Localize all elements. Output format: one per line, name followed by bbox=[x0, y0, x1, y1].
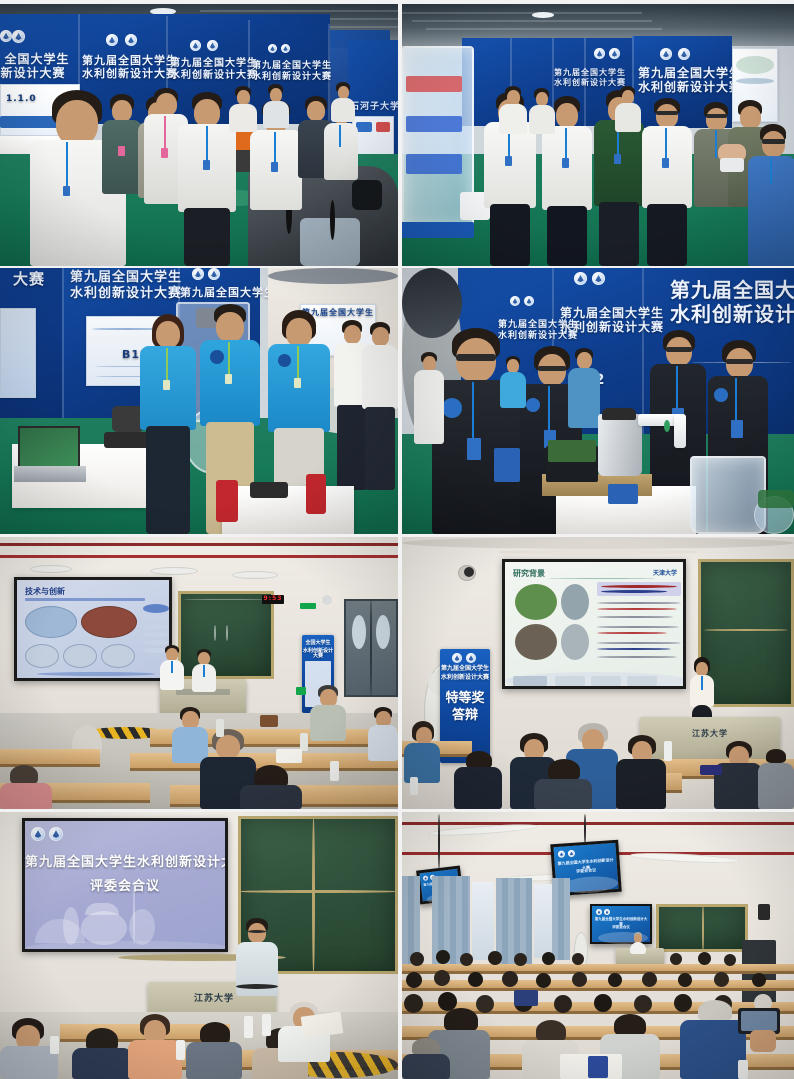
slide-logo-tianjin: 天津大学 bbox=[653, 568, 677, 577]
backdrop-subtitle-3: 水利创新设计大赛 bbox=[170, 70, 248, 82]
collage-panel-3[interactable]: 大赛 第九届全国大学生 水利创新设计大赛 第九届全国大学生 B12 第九届全国大… bbox=[0, 268, 398, 534]
backdrop-title-mid: 第九届全国大学生 bbox=[560, 306, 640, 321]
main-screen-subtitle: 评委会合议 bbox=[594, 925, 647, 930]
standee2-line-1: 第九届全国大学生 bbox=[440, 666, 490, 672]
backdrop-title-big: 第九届全国大 bbox=[670, 278, 794, 302]
backdrop-title-small: 第九届全国大学生 bbox=[554, 68, 614, 78]
slide-sub-title: 评委会合议 bbox=[25, 879, 225, 895]
backdrop-title-c: 第九届全国大学生 bbox=[180, 286, 270, 299]
backdrop-title-b: 第九届全国大学生 bbox=[70, 270, 178, 286]
collage-panel-8[interactable]: 第九届全国大学生水利创新设计大赛 评委会合议 第九届全国大学生水利创新设计大赛 … bbox=[402, 812, 794, 1079]
projection-screen-2: 研究背景 天津大学 bbox=[502, 559, 686, 689]
standee2-line-2: 水利创新设计大赛 bbox=[440, 675, 490, 681]
projection-screen-1: 技术与创新 bbox=[14, 577, 172, 681]
backdrop-title-main: 第九届全国大学生 bbox=[638, 66, 732, 81]
collage-panel-5[interactable]: 技术与创新 9:53 bbox=[0, 537, 398, 809]
collage-panel-2[interactable]: 第九届全国大学生 水利创新设计大赛 第九届全国大学生 水利创新设计大赛 bbox=[402, 4, 794, 266]
backdrop-subtitle-main: 水利创新设计大赛 bbox=[638, 80, 732, 95]
podium-university-label: 江苏大学 bbox=[670, 729, 750, 739]
clock-readout: 9:53 bbox=[262, 595, 284, 602]
photo-collage: 全国大学生 新设计大赛 第九届全国大学生 水利创新设计大赛 第九届全国大学生 水… bbox=[0, 0, 794, 1079]
collage-panel-4[interactable]: 第九届全国大 水利创新设计 第九届全国大学生 水利创新设计大赛 第九届全国大学生… bbox=[402, 268, 794, 534]
backdrop-subtitle-b: 水利创新设计大赛 bbox=[70, 286, 178, 302]
backdrop-title-2: 第九届全国大学生 bbox=[82, 54, 166, 67]
slide-main-title: 第九届全国大学生水利创新设计大赛 bbox=[25, 855, 225, 871]
standee-line-2: 水利创新设计大赛 bbox=[302, 649, 334, 660]
backdrop-title-3: 第九届全国大学生 bbox=[170, 58, 248, 70]
collage-panel-6[interactable]: 研究背景 天津大学 bbox=[402, 537, 794, 809]
collage-panel-7[interactable]: 第九届全国大学生水利创新设计大赛 评委会合议 江苏大学 bbox=[0, 812, 398, 1079]
backdrop-text-dasai: 大赛 bbox=[2, 270, 56, 288]
backdrop-subtitle-4: 水利创新设计大赛 bbox=[252, 72, 324, 83]
backdrop-subtitle-2: 水利创新设计大赛 bbox=[82, 67, 166, 80]
backdrop-subtitle-small: 水利创新设计大赛 bbox=[554, 78, 614, 88]
standee2-award-line: 特等奖答辩 bbox=[440, 691, 490, 724]
backdrop-subtitle-big: 水利创新设计 bbox=[670, 302, 794, 326]
slide-title-background: 研究背景 bbox=[513, 568, 545, 579]
slide-title-tech: 技术与创新 bbox=[25, 586, 65, 597]
standee-line-1: 全国大学生 bbox=[302, 641, 334, 646]
collage-panel-1[interactable]: 全国大学生 新设计大赛 第九届全国大学生 水利创新设计大赛 第九届全国大学生 水… bbox=[0, 4, 398, 266]
backdrop-title-1: 全国大学生 bbox=[0, 52, 92, 67]
backdrop-subtitle-1: 新设计大赛 bbox=[0, 66, 88, 81]
backdrop-title-4: 第九届全国大学生 bbox=[252, 61, 324, 72]
projection-screen-3: 第九届全国大学生水利创新设计大赛 评委会合议 bbox=[22, 818, 228, 952]
